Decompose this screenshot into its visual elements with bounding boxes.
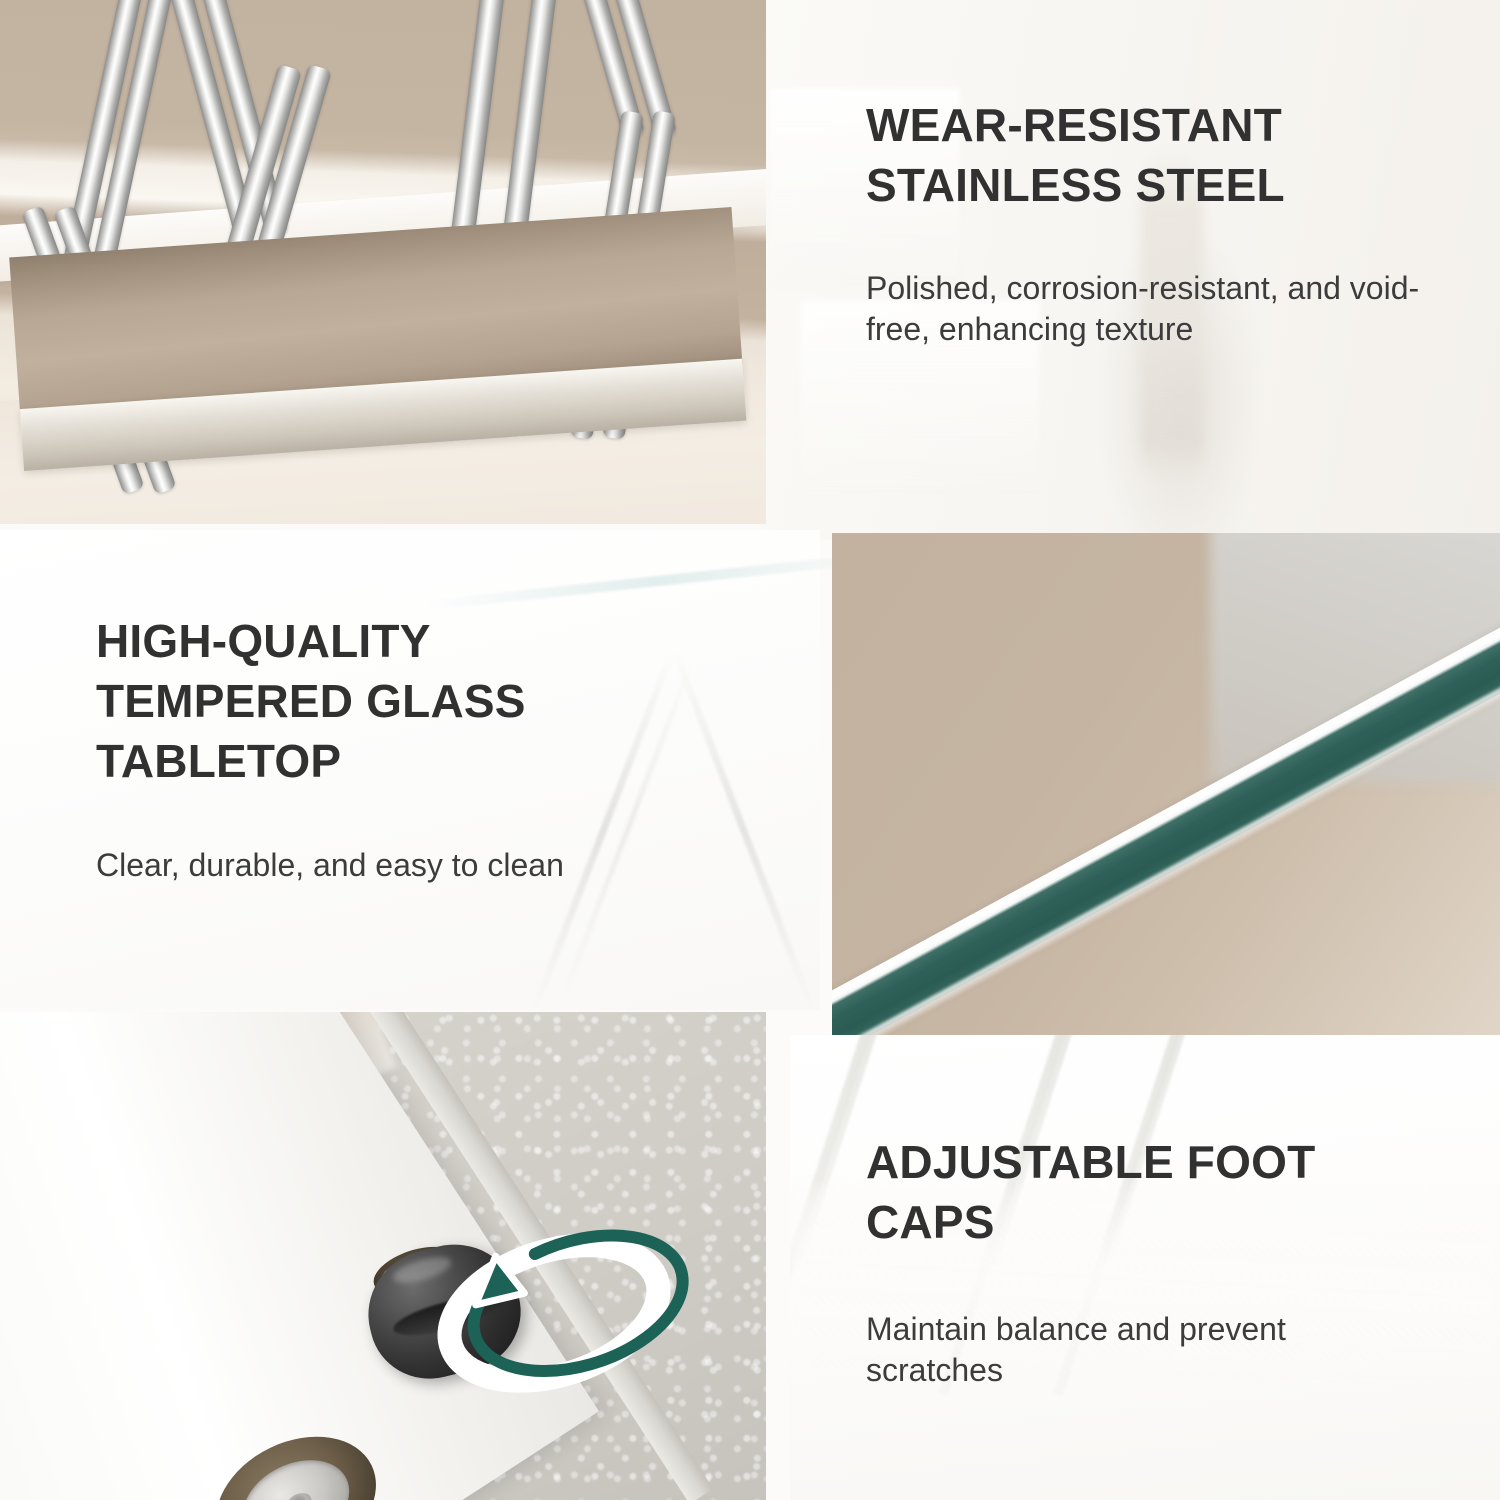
feature-title-line: ADJUSTABLE FOOT (866, 1133, 1426, 1193)
feature-title-line: STAINLESS STEEL (866, 156, 1426, 216)
feature-title-tempered-glass: HIGH-QUALITY TEMPERED GLASS TABLETOP (96, 612, 616, 791)
feature-block-tempered-glass: HIGH-QUALITY TEMPERED GLASS TABLETOP Cle… (96, 612, 616, 887)
feature-description-stainless-steel: Polished, corrosion-resistant, and void-… (866, 268, 1426, 351)
feature-title-line: HIGH-QUALITY (96, 612, 616, 672)
feature-block-stainless-steel: WEAR-RESISTANT STAINLESS STEEL Polished,… (866, 96, 1426, 351)
feature-title-line: CAPS (866, 1193, 1426, 1253)
adjustable-foot-cap-photo (0, 1012, 766, 1500)
background-glass-edge-line (429, 552, 888, 610)
feature-title-line: TABLETOP (96, 732, 616, 792)
feature-block-adjustable-foot-caps: ADJUSTABLE FOOT CAPS Maintain balance an… (866, 1133, 1426, 1392)
feature-description-adjustable-foot-caps: Maintain balance and prevent scratches (866, 1309, 1426, 1392)
feature-title-line: TEMPERED GLASS (96, 672, 616, 732)
background-x-leg-right (672, 651, 815, 1008)
feature-description-tempered-glass: Clear, durable, and easy to clean (96, 845, 616, 887)
tempered-glass-edge-photo (832, 533, 1500, 1035)
feature-title-adjustable-foot-caps: ADJUSTABLE FOOT CAPS (866, 1133, 1426, 1253)
feature-title-stainless-steel: WEAR-RESISTANT STAINLESS STEEL (866, 96, 1426, 216)
infographic-canvas: WEAR-RESISTANT STAINLESS STEEL Polished,… (0, 0, 1500, 1500)
stainless-steel-base-photo (0, 0, 766, 524)
feature-title-line: WEAR-RESISTANT (866, 96, 1426, 156)
